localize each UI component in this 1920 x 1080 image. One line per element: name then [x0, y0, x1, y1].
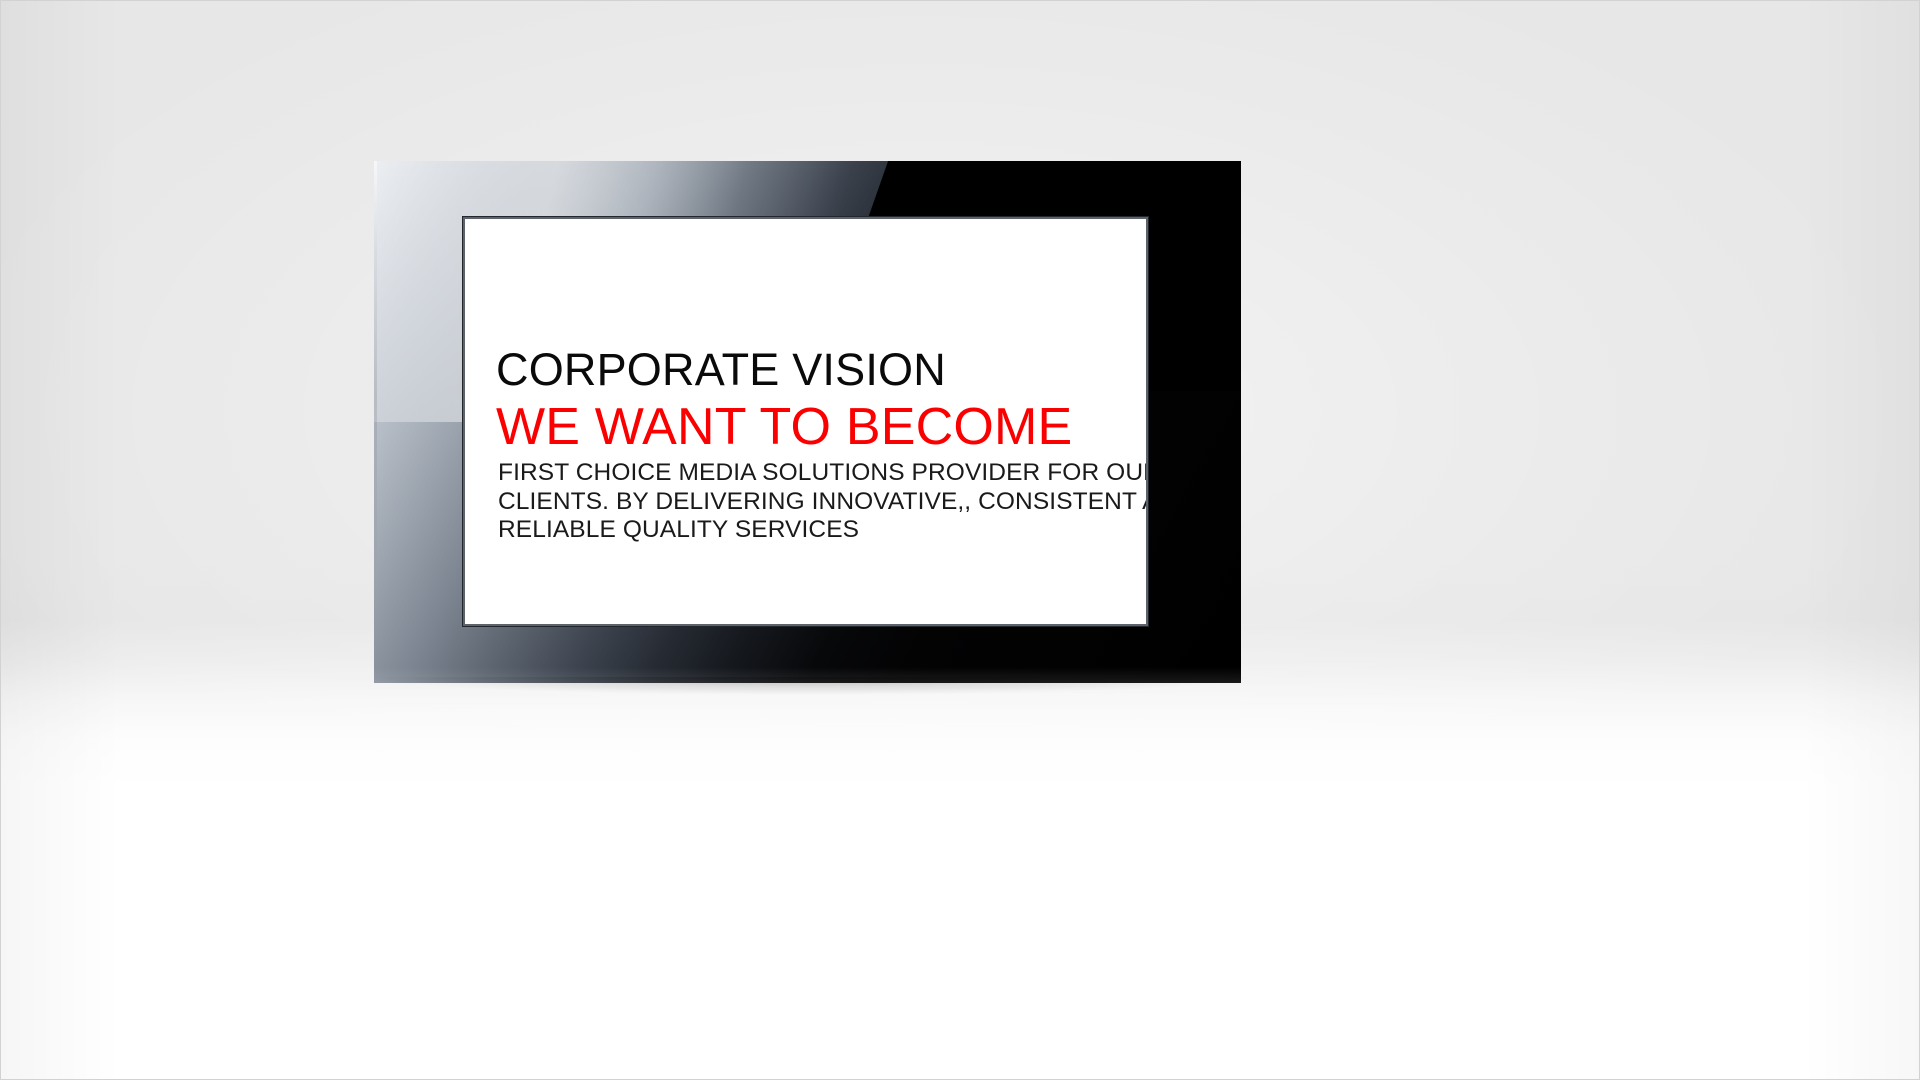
- reflection-haze-overlay: [374, 683, 1241, 973]
- monitor-screen: CORPORATE VISION WE WANT TO BECOME FIRST…: [465, 219, 1146, 624]
- slide-body-line: CLIENTS. BY DELIVERING INNOVATIVE,, CONS…: [498, 488, 1146, 517]
- monitor: CORPORATE VISION WE WANT TO BECOME FIRST…: [374, 161, 1241, 683]
- slide-content: CORPORATE VISION WE WANT TO BECOME FIRST…: [496, 219, 1140, 624]
- slide-body-text: FIRST CHOICE MEDIA SOLUTIONS PROVIDER FO…: [498, 459, 1146, 545]
- slide-subtitle: WE WANT TO BECOME: [496, 401, 1072, 453]
- slide-body-line: RELIABLE QUALITY SERVICES: [498, 516, 1146, 545]
- scene-stage: CORPORATE VISION WE WANT TO BECOME FIRST…: [0, 0, 1920, 1080]
- monitor-reflection: [374, 683, 1241, 973]
- slide-body-line: FIRST CHOICE MEDIA SOLUTIONS PROVIDER FO…: [498, 459, 1146, 488]
- slide-title: CORPORATE VISION: [496, 347, 946, 392]
